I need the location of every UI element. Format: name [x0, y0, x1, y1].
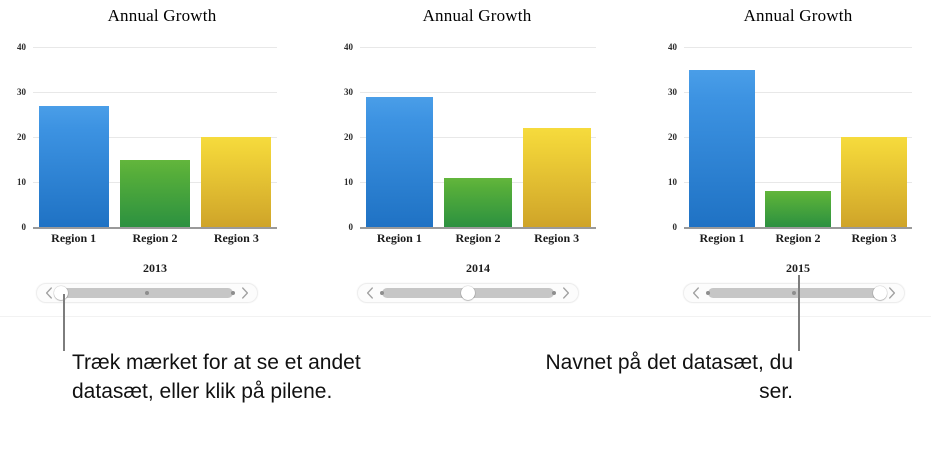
bar-region-1 [689, 70, 754, 228]
y-axis-tick-40: 40 [344, 42, 353, 52]
chevron-right-icon[interactable] [555, 284, 577, 302]
chart-title: Annual Growth [0, 6, 310, 26]
y-axis-tick-10: 10 [668, 177, 677, 187]
y-axis-tick-30: 30 [668, 87, 677, 97]
y-axis-tick-40: 40 [668, 42, 677, 52]
chevron-right-icon[interactable] [881, 284, 903, 302]
x-axis-label-region-3: Region 3 [517, 231, 596, 247]
x-axis-labels: Region 1 Region 2 Region 3 [684, 231, 912, 247]
bar-region-1 [366, 97, 434, 228]
y-axis-tick-20: 20 [344, 132, 353, 142]
bar-region-2 [765, 191, 830, 227]
bar-cell [360, 47, 439, 227]
plot-area: 40 30 20 10 0 [360, 47, 596, 227]
chart-panel-2015: Annual Growth 40 30 20 10 0 Region 1 Reg… [630, 0, 931, 310]
x-axis-labels: Region 1 Region 2 Region 3 [360, 231, 596, 247]
y-axis-tick-0: 0 [349, 222, 354, 232]
chart-panel-2013: Annual Growth 40 30 20 10 0 Region 1 Reg… [0, 0, 310, 310]
x-axis-label-region-1: Region 1 [33, 231, 114, 247]
section-divider [0, 316, 931, 317]
bar-cell [760, 47, 836, 227]
x-axis-label-region-3: Region 3 [196, 231, 277, 247]
y-axis-tick-0: 0 [673, 222, 678, 232]
chevron-left-icon[interactable] [685, 284, 707, 302]
y-axis-tick-40: 40 [17, 42, 26, 52]
chart-title: Annual Growth [318, 6, 628, 26]
bar-cell [517, 47, 596, 227]
axis-baseline [360, 227, 596, 229]
data-set-name: 2015 [684, 261, 912, 276]
x-axis-labels: Region 1 Region 2 Region 3 [33, 231, 277, 247]
chart-title: Annual Growth [630, 6, 931, 26]
bar-cell [439, 47, 518, 227]
data-set-slider[interactable] [683, 283, 905, 303]
y-axis-tick-20: 20 [17, 132, 26, 142]
slider-thumb[interactable] [461, 286, 475, 300]
bar-region-1 [39, 106, 109, 228]
callout-leader-line-left [63, 294, 65, 351]
bar-region-2 [120, 160, 190, 228]
slider-stop-0[interactable] [380, 291, 384, 295]
x-axis-label-region-2: Region 2 [439, 231, 518, 247]
slider-thumb[interactable] [54, 286, 68, 300]
callout-leader-line-right [798, 275, 800, 351]
bar-group [684, 47, 912, 227]
y-axis-tick-10: 10 [344, 177, 353, 187]
slider-stop-1[interactable] [145, 291, 149, 295]
x-axis-label-region-2: Region 2 [760, 231, 836, 247]
y-axis-tick-30: 30 [17, 87, 26, 97]
bar-cell [114, 47, 195, 227]
bar-region-3 [523, 128, 591, 227]
chart-panel-2014: Annual Growth 40 30 20 10 0 Region 1 Reg… [318, 0, 628, 310]
y-axis-tick-30: 30 [344, 87, 353, 97]
bar-cell [33, 47, 114, 227]
x-axis-label-region-2: Region 2 [114, 231, 195, 247]
callout-text-data-set-name: Navnet på det datasæt, du ser. [540, 348, 793, 406]
axis-baseline [684, 227, 912, 229]
slider-track[interactable] [708, 288, 880, 298]
y-axis-tick-10: 10 [17, 177, 26, 187]
slider-stop-0[interactable] [706, 291, 710, 295]
bar-group [360, 47, 596, 227]
y-axis-tick-20: 20 [668, 132, 677, 142]
bar-region-3 [841, 137, 906, 227]
data-set-slider[interactable] [36, 283, 258, 303]
bar-region-2 [444, 178, 512, 228]
x-axis-label-region-1: Region 1 [360, 231, 439, 247]
chevron-right-icon[interactable] [234, 284, 256, 302]
slider-stop-1[interactable] [792, 291, 796, 295]
bar-group [33, 47, 277, 227]
data-set-name: 2014 [360, 261, 596, 276]
x-axis-label-region-3: Region 3 [836, 231, 912, 247]
data-set-slider[interactable] [357, 283, 579, 303]
x-axis-label-region-1: Region 1 [684, 231, 760, 247]
slider-track[interactable] [382, 288, 554, 298]
plot-area: 40 30 20 10 0 [684, 47, 912, 227]
bar-region-3 [201, 137, 271, 227]
axis-baseline [33, 227, 277, 229]
callout-text-slider: Træk mærket for at se et andet datasæt, … [72, 348, 422, 406]
plot-area: 40 30 20 10 0 [33, 47, 277, 227]
chevron-left-icon[interactable] [359, 284, 381, 302]
slider-track[interactable] [61, 288, 233, 298]
bar-cell [684, 47, 760, 227]
bar-cell [836, 47, 912, 227]
data-set-name: 2013 [33, 261, 277, 276]
y-axis-tick-0: 0 [22, 222, 27, 232]
bar-cell [196, 47, 277, 227]
